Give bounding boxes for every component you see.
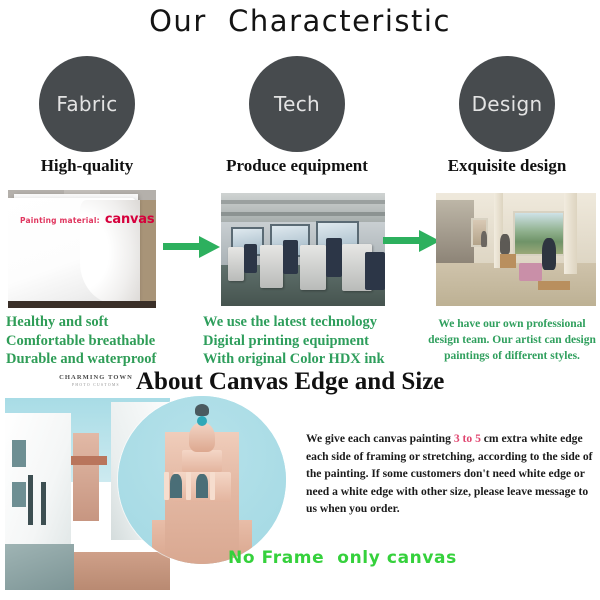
printer-operator: [244, 244, 257, 273]
caption-line: design team. Our artist can design: [424, 333, 600, 349]
description-part-1: We give each canvas painting: [306, 432, 454, 445]
section-heading: About Canvas Edge and Size: [136, 368, 444, 396]
feature-circle-label: Fabric: [56, 92, 117, 116]
feature-circle-tech: Tech: [249, 56, 345, 152]
magnifier-dome: [189, 422, 215, 452]
caption-line: Healthy and soft: [6, 313, 156, 332]
caption-line: We have our own professional: [424, 317, 600, 333]
factory-beam: [221, 200, 385, 204]
studio-column: [564, 193, 577, 274]
magnifier-finial: [197, 416, 207, 426]
caption-line: Comfortable breathable: [6, 332, 156, 351]
magnifier-arch: [170, 474, 182, 498]
magnifier-column: [186, 472, 191, 500]
street-window: [12, 482, 27, 507]
caption-middle: We use the latest technology Digital pri…: [203, 313, 385, 369]
watermark-brand-name: CHARMING TOWN: [54, 374, 138, 381]
canvas-overlay-text: Painting material: canvas: [20, 208, 154, 227]
caption-right: We have our own professional design team…: [424, 317, 600, 365]
studio-painter: [500, 234, 510, 254]
factory-beam: [221, 212, 385, 216]
magnifier-tower-tier: [182, 450, 222, 472]
feature-circle-label: Design: [472, 92, 543, 116]
street-balcony: [28, 475, 33, 525]
caption-line: Digital printing equipment: [203, 332, 385, 351]
feature-circle-design: Design: [459, 56, 555, 152]
studio-painter: [542, 238, 556, 270]
printer-unit: [228, 247, 244, 281]
caption-line: paintings of different styles.: [424, 349, 600, 365]
watermark-tagline: PHOTO CUSTOMS: [54, 383, 138, 387]
photo-art-studio: [436, 193, 596, 306]
printer-operator: [283, 240, 298, 274]
feature-circle-label: Tech: [274, 92, 320, 116]
studio-large-painting: [513, 211, 565, 256]
infographic-root: Our Characteristic Fabric Tech Design Hi…: [0, 0, 600, 600]
studio-painter: [481, 231, 487, 247]
street-pavement: [5, 544, 74, 590]
arrow-right-icon: [163, 234, 221, 260]
edge-size-description: We give each canvas painting 3 to 5 cm e…: [306, 430, 598, 518]
street-window: [12, 440, 27, 467]
photo-printing-factory: [221, 193, 385, 306]
magnifier-column: [210, 472, 215, 500]
magnifier-column: [164, 472, 169, 500]
caption-line: Durable and waterproof: [6, 350, 156, 369]
caption-line: With original Color HDX ink: [203, 350, 385, 369]
canvas-overlay-value: canvas: [105, 212, 155, 227]
printer-unit: [300, 245, 326, 290]
magnifier-arch: [196, 474, 208, 498]
factory-ceiling: [221, 193, 385, 222]
no-frame-note: No Frame only canvas: [228, 548, 457, 568]
studio-supply-table: [538, 281, 570, 290]
studio-chair: [519, 263, 541, 281]
street-bell-tower: [73, 433, 99, 521]
printer-operator: [365, 252, 385, 290]
canvas-overlay-label: Painting material:: [20, 216, 100, 225]
feature-caption-tech: Produce equipment: [202, 156, 392, 176]
arrow-right-icon: [383, 228, 441, 254]
printer-operator: [326, 238, 342, 276]
magnifier-weathervane-icon: [195, 404, 209, 416]
canvas-table-edge: [8, 301, 156, 308]
studio-corridor: [436, 200, 474, 263]
magnifier-detail-circle: [118, 396, 286, 564]
street-roof: [68, 456, 108, 466]
description-highlight: 3 to 5: [454, 432, 481, 445]
caption-left: Healthy and soft Comfortable breathable …: [6, 313, 156, 369]
page-title: Our Characteristic: [0, 4, 600, 38]
studio-stool: [500, 254, 516, 268]
feature-caption-design: Exquisite design: [412, 156, 600, 176]
street-balcony: [41, 482, 46, 524]
brand-watermark: CHARMING TOWN PHOTO CUSTOMS: [54, 374, 138, 387]
photo-canvas-material: Painting material: canvas: [8, 190, 156, 308]
feature-circle-fabric: Fabric: [39, 56, 135, 152]
caption-line: We use the latest technology: [203, 313, 385, 332]
printer-unit: [260, 245, 283, 288]
feature-caption-fabric: High-quality: [0, 156, 182, 176]
